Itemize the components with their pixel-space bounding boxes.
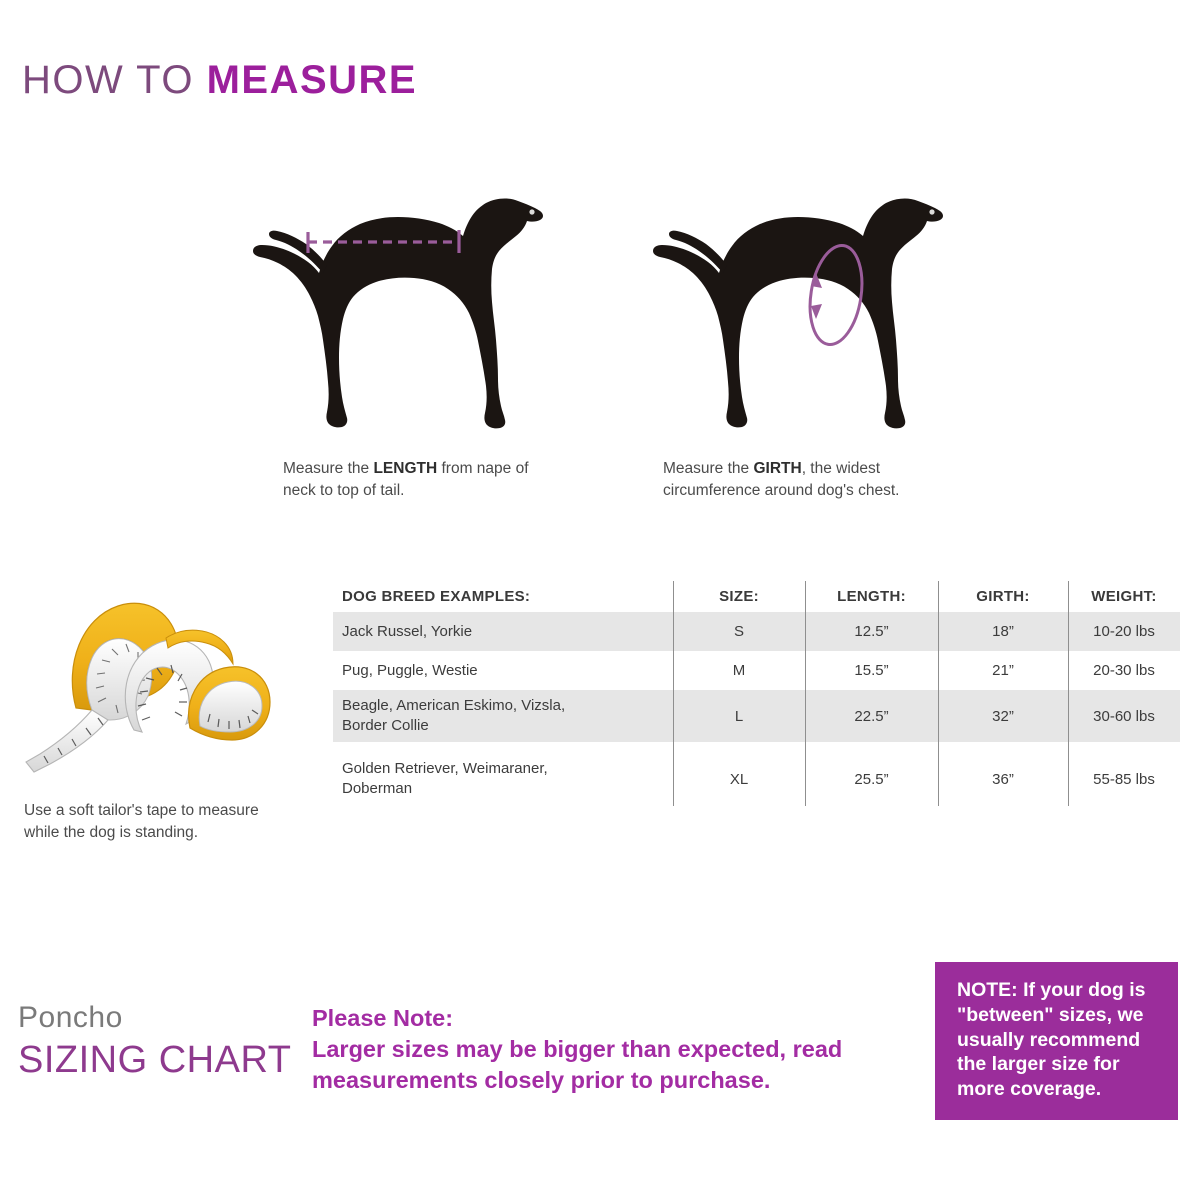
cell-weight: 10-20 lbs [1068, 623, 1180, 640]
please-note-block: Please Note: Larger sizes may be bigger … [312, 1003, 922, 1096]
cell-girth: 36” [938, 771, 1068, 788]
cell-breed: Beagle, American Eskimo, Vizsla, Border … [333, 696, 673, 736]
cell-size: M [673, 662, 805, 679]
girth-caption: Measure the GIRTH, the widest circumfere… [663, 458, 938, 502]
cell-length: 25.5” [805, 771, 938, 788]
length-caption-prefix: Measure the [283, 460, 373, 477]
brand-block: Poncho SIZING CHART [18, 1003, 291, 1079]
dog-silhouette-length-icon [250, 185, 550, 445]
brand-line-sizing-chart: SIZING CHART [18, 1041, 291, 1079]
page-title-part2: MEASURE [207, 58, 418, 102]
cell-size: L [673, 708, 805, 725]
cell-breed: Golden Retriever, Weimaraner, Doberman [333, 759, 673, 799]
page-title-part1: HOW TO [22, 58, 207, 102]
page-title: HOW TO MEASURE [22, 60, 417, 100]
table-divider [673, 581, 674, 806]
cell-size: XL [673, 771, 805, 788]
header-weight: WEIGHT: [1068, 588, 1180, 605]
table-divider [805, 581, 806, 806]
header-breed: DOG BREED EXAMPLES: [333, 588, 673, 605]
cell-weight: 20-30 lbs [1068, 662, 1180, 679]
length-caption-keyword: LENGTH [373, 460, 437, 477]
cell-length: 12.5” [805, 623, 938, 640]
tape-caption: Use a soft tailor's tape to measure whil… [24, 800, 274, 845]
girth-caption-prefix: Measure the [663, 460, 753, 477]
tailors-tape-measure-icon [14, 580, 286, 780]
please-note-body: Larger sizes may be bigger than expected… [312, 1034, 922, 1096]
header-size: SIZE: [673, 588, 805, 605]
please-note-title: Please Note: [312, 1003, 922, 1034]
header-length: LENGTH: [805, 588, 938, 605]
cell-weight: 30-60 lbs [1068, 708, 1180, 725]
cell-length: 22.5” [805, 708, 938, 725]
girth-caption-keyword: GIRTH [753, 460, 801, 477]
cell-breed: Jack Russel, Yorkie [333, 622, 673, 642]
table-divider [1068, 581, 1069, 806]
note-box: NOTE: If your dog is "between" sizes, we… [935, 962, 1178, 1120]
cell-size: S [673, 623, 805, 640]
girth-illustration [645, 185, 955, 445]
dog-silhouette-girth-icon [645, 185, 955, 445]
table-header-row: DOG BREED EXAMPLES: SIZE: LENGTH: GIRTH:… [333, 581, 1180, 612]
cell-girth: 32” [938, 708, 1068, 725]
cell-girth: 21” [938, 662, 1068, 679]
cell-girth: 18” [938, 623, 1068, 640]
cell-length: 15.5” [805, 662, 938, 679]
sizing-table: DOG BREED EXAMPLES: SIZE: LENGTH: GIRTH:… [333, 581, 1180, 806]
length-caption: Measure the LENGTH from nape of neck to … [283, 458, 553, 502]
tape-measure-illustration [14, 580, 286, 780]
cell-breed: Pug, Puggle, Westie [333, 661, 673, 681]
table-row: Golden Retriever, Weimaraner, Doberman X… [333, 753, 1180, 805]
cell-weight: 55-85 lbs [1068, 771, 1180, 788]
table-row: Jack Russel, Yorkie S 12.5” 18” 10-20 lb… [333, 612, 1180, 651]
table-row: Pug, Puggle, Westie M 15.5” 21” 20-30 lb… [333, 651, 1180, 690]
length-illustration [250, 185, 550, 445]
note-box-text: NOTE: If your dog is "between" sizes, we… [957, 978, 1164, 1102]
table-divider [938, 581, 939, 806]
header-girth: GIRTH: [938, 588, 1068, 605]
brand-line-poncho: Poncho [18, 1003, 291, 1033]
table-row: Beagle, American Eskimo, Vizsla, Border … [333, 690, 1180, 742]
table-grid: DOG BREED EXAMPLES: SIZE: LENGTH: GIRTH:… [333, 581, 1180, 806]
